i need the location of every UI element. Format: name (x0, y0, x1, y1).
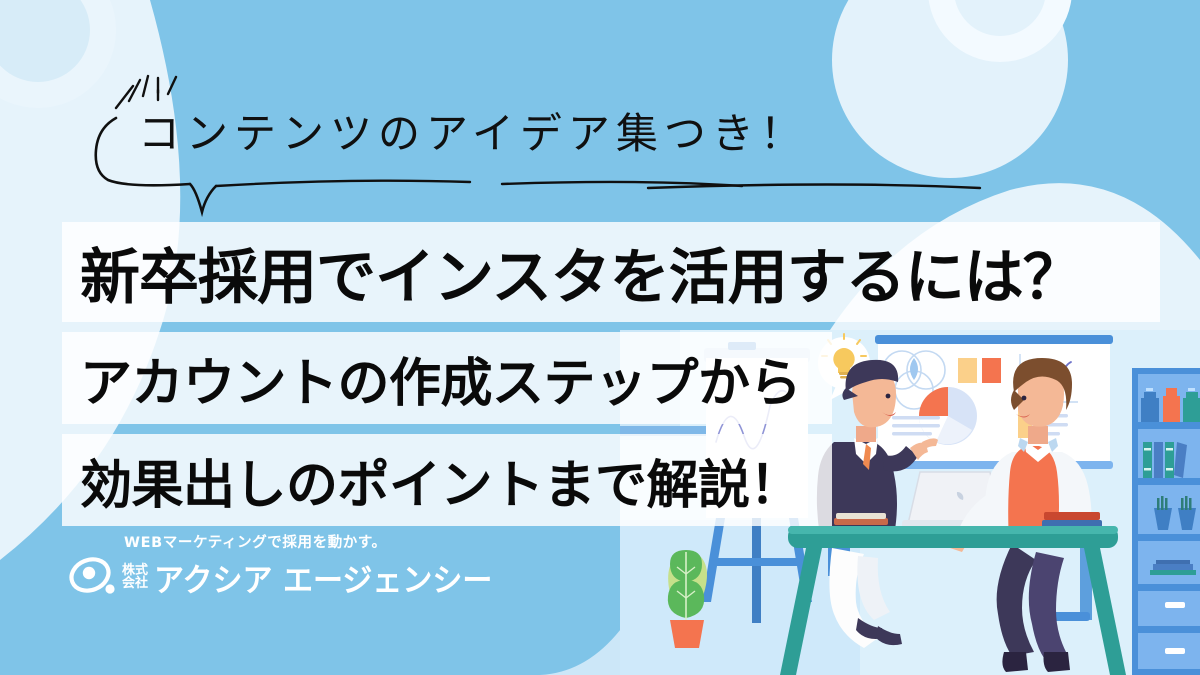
logo-tagline: WEBマーケティングで採用を動かす。 (124, 531, 492, 552)
subline-1: アカウントの作成ステップから (62, 341, 801, 416)
underline-seg-3 (648, 185, 980, 189)
underline-seg-1 (216, 181, 470, 186)
logo-kaisha: 会社 (122, 577, 148, 590)
subline-band-1: アカウントの作成ステップから (62, 332, 832, 424)
subline-band-2: 効果出しのポイントまで解説！ (62, 434, 832, 526)
banner-root: コンテンツのアイデア集つき！ 新卒採用でインスタを活用するには？ アカウントの作… (0, 0, 1200, 675)
company-logo: WEBマーケティングで採用を動かす。 株式 会社 アクシア エージェンシー (68, 531, 492, 599)
logo-row: 株式 会社 アクシア エージェンシー (68, 555, 492, 599)
eyebrow-text: コンテンツのアイデア集つき！ (138, 100, 808, 161)
logo-kabushiki: 株式 (122, 564, 148, 577)
logo-kabushiki-kaisha: 株式 会社 (122, 564, 148, 591)
axia-lens-icon (68, 556, 118, 598)
page-title: 新卒採用でインスタを活用するには？ (62, 229, 1082, 316)
headline-band: 新卒採用でインスタを活用するには？ (62, 222, 1160, 322)
subline-2: 効果出しのポイントまで解説！ (62, 443, 801, 518)
bubble-tail (190, 184, 216, 212)
logo-company-name: アクシア エージェンシー (154, 554, 492, 601)
